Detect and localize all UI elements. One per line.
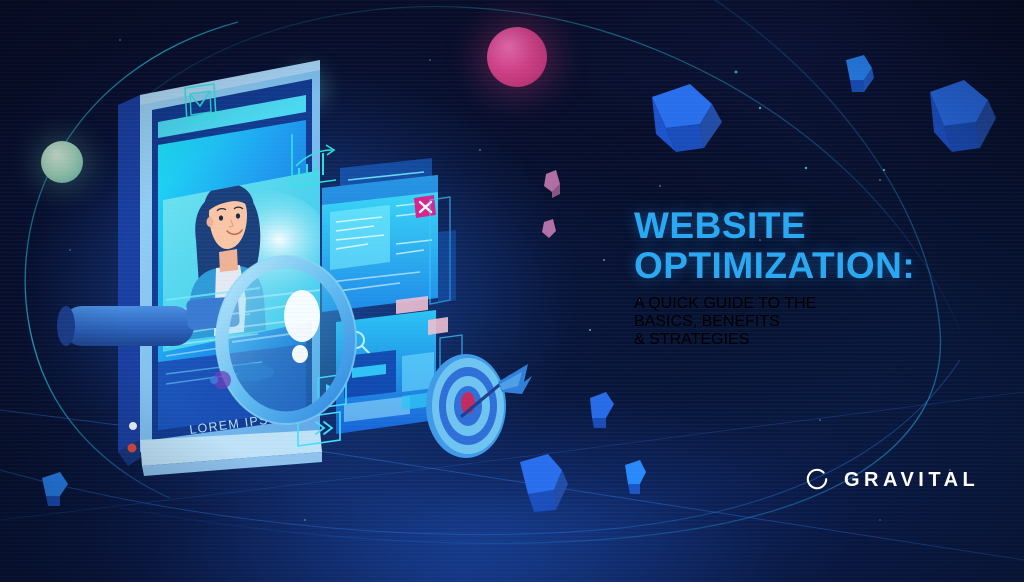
title-line-2: OPTIMIZATION:	[634, 246, 1004, 286]
open-circle-ring-icon	[806, 468, 831, 493]
hero-banner: LOREM IPSUM	[0, 0, 1024, 582]
page-title: WEBSITE OPTIMIZATION:	[634, 206, 1004, 286]
title-line-1: WEBSITE	[634, 206, 1004, 246]
lens-highlight-large	[284, 290, 320, 342]
brand-logo[interactable]: GRAVITAL	[806, 468, 979, 493]
headline-block: WEBSITE OPTIMIZATION: A QUICK GUIDE TO T…	[634, 206, 1004, 365]
lens-highlight-small	[292, 345, 308, 363]
window-close-x-icon	[414, 195, 436, 218]
tag-chip-2	[428, 317, 448, 335]
subtitle-line-1: A QUICK GUIDE TO THE	[634, 295, 1004, 313]
target-dartboard-icon	[426, 354, 532, 458]
led-white	[129, 422, 137, 430]
subtitle-line-2: BASICS, BENEFITS	[634, 313, 1004, 331]
logo-wordmark: GRAVITAL	[844, 469, 979, 492]
subtitle-line-3: & STRATEGIES	[634, 331, 1004, 349]
led-red	[128, 444, 137, 453]
